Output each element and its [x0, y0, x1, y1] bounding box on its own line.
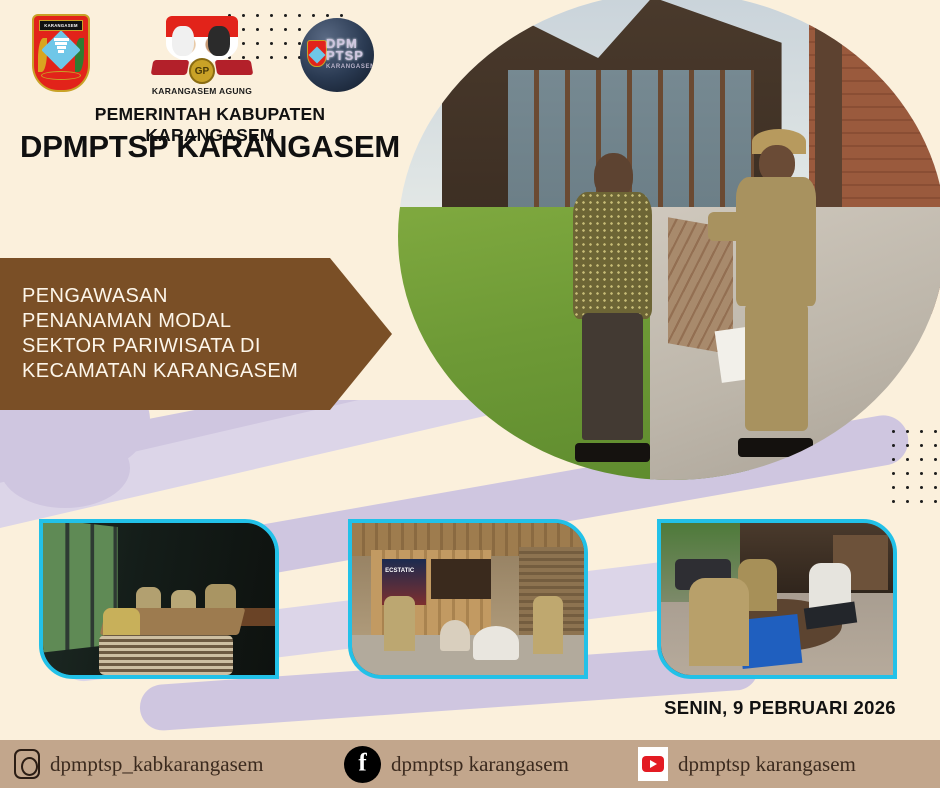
decorative-dot: [892, 500, 895, 503]
social-youtube[interactable]: dpmptsp karangasem: [638, 747, 856, 781]
social-facebook[interactable]: dpmptsp karangasem: [344, 746, 569, 783]
facebook-icon: [344, 746, 381, 783]
hero-scene: [398, 0, 940, 480]
hero-person-officer: [732, 129, 820, 451]
event-date: SENIN, 9 PEBRUARI 2026: [640, 697, 920, 719]
facebook-handle: dpmptsp karangasem: [391, 752, 569, 777]
karangasem-regency-crest-icon: KARANGASEM: [32, 14, 90, 92]
crest-caption: KARANGASEM: [44, 23, 77, 28]
youtube-handle: dpmptsp karangasem: [678, 752, 856, 777]
banner-title: PENGAWASAN PENANAMAN MODAL SEKTOR PARIWI…: [0, 284, 298, 384]
dpmptsp-logo-sub: KARANGASEM: [326, 64, 372, 70]
decorative-dot: [920, 486, 923, 489]
dpmptsp-round-logo-icon: DPM PTSP KARANGASEM: [300, 18, 374, 92]
decorative-dot: [934, 486, 937, 489]
organization-title: DPMPTSP KARANGASEM: [14, 129, 406, 165]
agung-caption: KARANGASEM AGUNG: [150, 86, 254, 96]
decorative-dot: [920, 500, 923, 503]
instagram-handle: dpmptsp_kabkarangasem: [50, 752, 263, 777]
decorative-dot: [906, 500, 909, 503]
swoosh-blob-top: [0, 428, 130, 508]
hero-photo: [398, 0, 940, 480]
decorative-dot: [892, 486, 895, 489]
youtube-icon: [638, 747, 668, 781]
social-instagram[interactable]: dpmptsp_kabkarangasem: [14, 749, 263, 779]
dpmptsp-logo-word: DPM PTSP: [326, 38, 372, 62]
agung-seal-text: GP: [189, 58, 215, 84]
karangasem-agung-logo-icon: GP KARANGASEM AGUNG: [150, 12, 254, 98]
arrow-banner: PENGAWASAN PENANAMAN MODAL SEKTOR PARIWI…: [0, 258, 392, 410]
logo-row: KARANGASEM GP KARANGASEM AGUNG DPM PTSP …: [0, 0, 420, 105]
gallery-photo-3: [657, 519, 897, 679]
footer-bar: dpmptsp_kabkarangasem dpmptsp karangasem…: [0, 740, 940, 788]
hero-person-batik: [568, 153, 656, 456]
instagram-icon: [14, 749, 40, 779]
gallery-photo-2: [348, 519, 588, 679]
poster-canvas: KARANGASEM GP KARANGASEM AGUNG DPM PTSP …: [0, 0, 940, 788]
decorative-dot: [934, 500, 937, 503]
gallery-photo-1: [39, 519, 279, 679]
decorative-dot: [906, 486, 909, 489]
